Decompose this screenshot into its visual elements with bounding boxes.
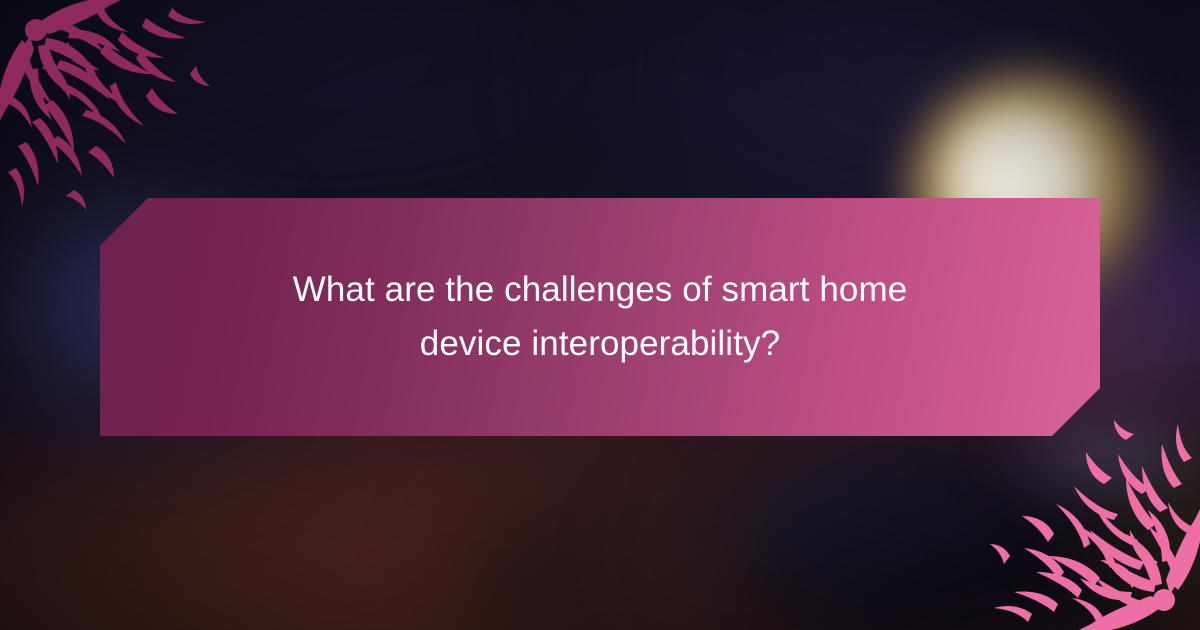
question-text: What are the challenges of smart home de… [220, 263, 980, 372]
question-banner: What are the challenges of smart home de… [100, 198, 1100, 436]
quote-card: What are the challenges of smart home de… [0, 0, 1200, 630]
